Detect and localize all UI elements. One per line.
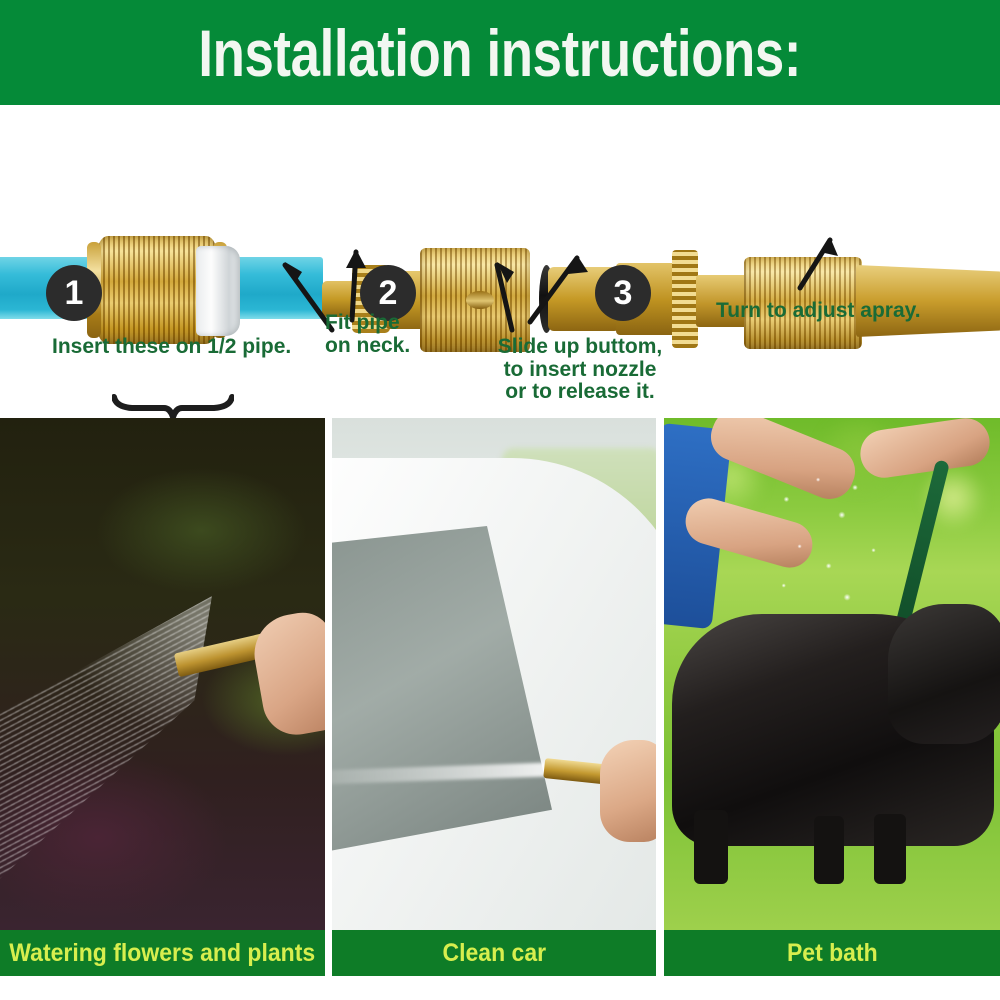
use-case-photo-car [332, 418, 656, 930]
use-case-photo-pet [664, 418, 1000, 930]
page-title: Installation instructions: [199, 20, 802, 86]
hand-holding-nozzle [600, 740, 656, 842]
use-case-gallery: Watering flowers and plants Clean car Pe… [0, 418, 1000, 1000]
nozzle-flange [672, 250, 698, 348]
hand-holding-nozzle [248, 608, 325, 740]
step-badge-3: 3 [595, 265, 651, 321]
dog-leg [874, 814, 906, 884]
step-badge-2-label: 2 [379, 276, 398, 310]
step-1-caption: Insert these on 1/2 pipe. [52, 336, 291, 359]
white-ferrule-icon [196, 246, 240, 336]
grouping-brace-icon [112, 393, 234, 419]
caption-bar-watering: Watering flowers and plants [0, 930, 325, 976]
car-wash-scene [332, 418, 656, 930]
step-badge-1: 1 [46, 265, 102, 321]
caption-bar-pet: Pet bath [664, 930, 1000, 976]
water-fan-spray [0, 596, 212, 886]
black-dog-head [888, 604, 1000, 744]
use-case-photo-watering [0, 418, 325, 930]
dog-leg [694, 810, 728, 884]
step-badge-3-label: 3 [614, 276, 633, 310]
caption-bar-car-label: Clean car [442, 939, 546, 968]
step-badge-1-label: 1 [65, 276, 84, 310]
header-banner: Installation instructions: [0, 0, 1000, 105]
step-2-caption: Fit pipe on neck. [325, 312, 410, 357]
dog-leg [814, 816, 844, 884]
step-3-caption: Slide up buttom, to insert nozzle or to … [480, 336, 680, 404]
pet-bath-scene [664, 418, 1000, 930]
caption-bar-car: Clean car [332, 930, 656, 976]
coupler-dimple [466, 291, 494, 309]
caption-bar-pet-label: Pet bath [787, 939, 878, 968]
adjust-spray-caption: Turn to adjust apray. [716, 300, 921, 323]
garden-scene [0, 418, 325, 930]
product-infographic: Installation instructions: 1 2 3 [0, 0, 1000, 1000]
blue-hose-right [228, 257, 323, 319]
caption-bar-watering-label: Watering flowers and plants [10, 939, 316, 968]
